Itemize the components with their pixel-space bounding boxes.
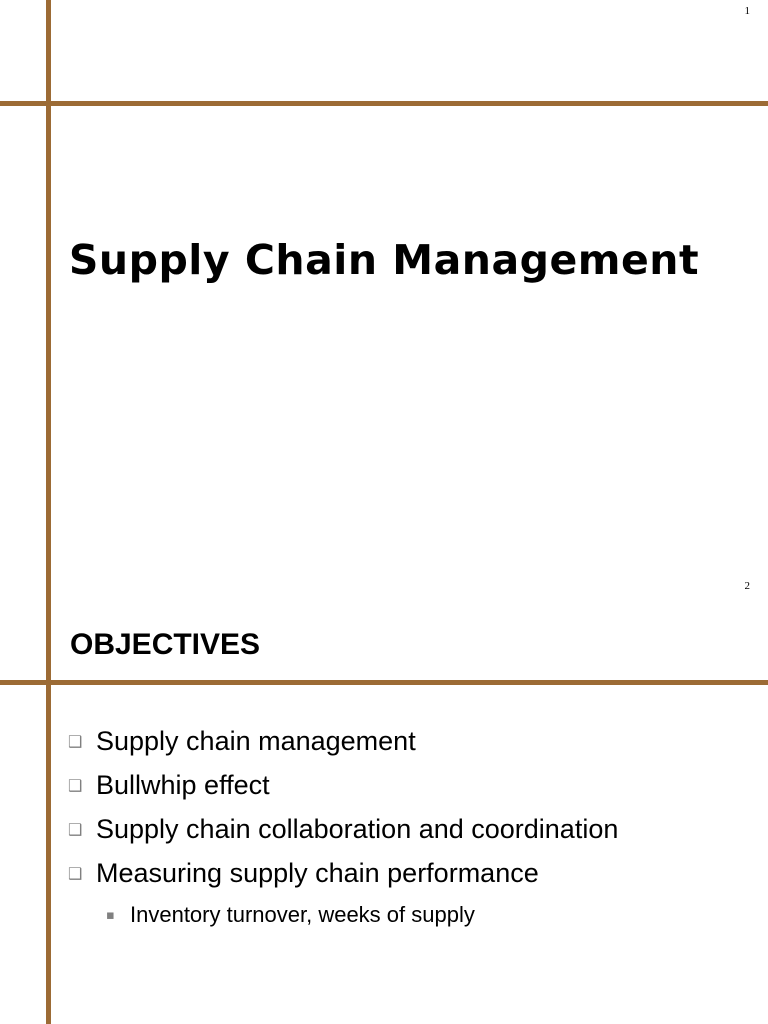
list-item: ❑ Bullwhip effect xyxy=(68,770,768,801)
sub-list-item-label: Inventory turnover, weeks of supply xyxy=(130,902,475,928)
square-filled-icon: ▪ xyxy=(106,909,130,922)
sub-list-item: ▪ Inventory turnover, weeks of supply xyxy=(106,902,768,928)
list-item: ❑ Supply chain collaboration and coordin… xyxy=(68,814,768,845)
slide-2-vertical-rule xyxy=(46,566,51,1024)
document-page: 1 Supply Chain Management 2 OBJECTIVES ❑… xyxy=(0,0,768,1024)
list-item-label: Measuring supply chain performance xyxy=(96,858,539,889)
square-outline-icon: ❑ xyxy=(68,866,96,882)
slide-1-title: Supply Chain Management xyxy=(0,236,768,284)
square-outline-icon: ❑ xyxy=(68,734,96,750)
slide-2: 2 OBJECTIVES ❑ Supply chain management ❑… xyxy=(0,566,768,1024)
slide-2-bullet-list: ❑ Supply chain management ❑ Bullwhip eff… xyxy=(68,726,768,928)
square-outline-icon: ❑ xyxy=(68,822,96,838)
slide-1-horizontal-rule xyxy=(0,101,768,106)
slide-1-vertical-rule xyxy=(46,0,51,620)
slide-2-page-number: 2 xyxy=(745,580,751,593)
list-item: ❑ Supply chain management xyxy=(68,726,768,757)
list-item: ❑ Measuring supply chain performance xyxy=(68,858,768,889)
list-item-label: Bullwhip effect xyxy=(96,770,270,801)
list-item-label: Supply chain collaboration and coordinat… xyxy=(96,814,618,845)
list-item-label: Supply chain management xyxy=(96,726,416,757)
slide-2-title: OBJECTIVES xyxy=(70,628,260,662)
slide-2-horizontal-rule xyxy=(0,680,768,685)
slide-1: 1 Supply Chain Management xyxy=(0,0,768,620)
square-outline-icon: ❑ xyxy=(68,778,96,794)
slide-1-page-number: 1 xyxy=(745,5,751,18)
